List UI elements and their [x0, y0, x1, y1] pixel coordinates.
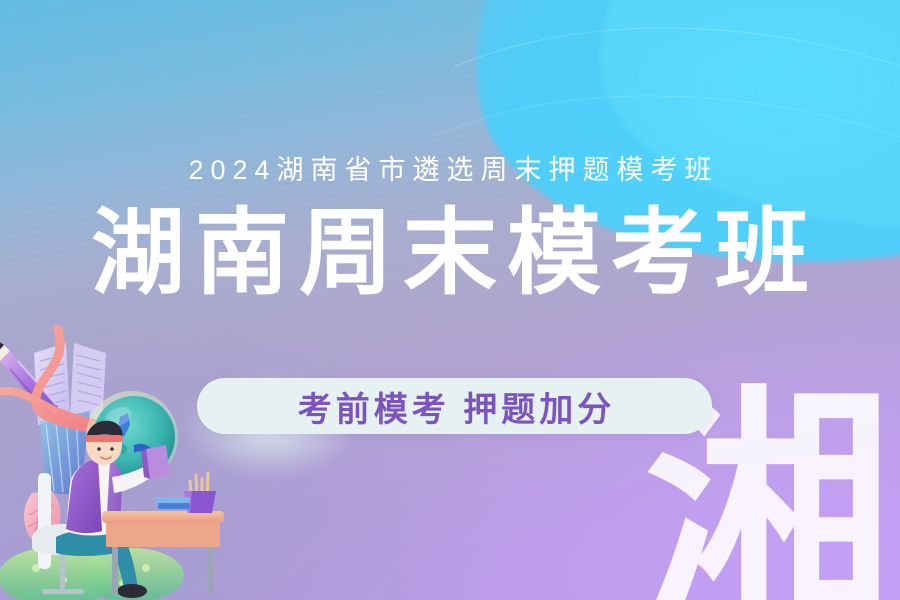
desk-books [156, 497, 190, 509]
student-studying-illustration [0, 325, 234, 600]
promo-banner: 湘 2024湖南省市遴选周末押题模考班 湖南周末模考班 考前模考 押题加分 [0, 0, 900, 600]
cyan-highlight-shape [600, 0, 900, 230]
highlight-badge: 考前模考 押题加分 [197, 378, 712, 434]
banner-subtitle: 2024湖南省市遴选周末押题模考班 [0, 148, 900, 187]
highlight-badge-label: 考前模考 押题加分 [294, 382, 615, 431]
banner-title: 湖南周末模考班 [0, 206, 900, 300]
